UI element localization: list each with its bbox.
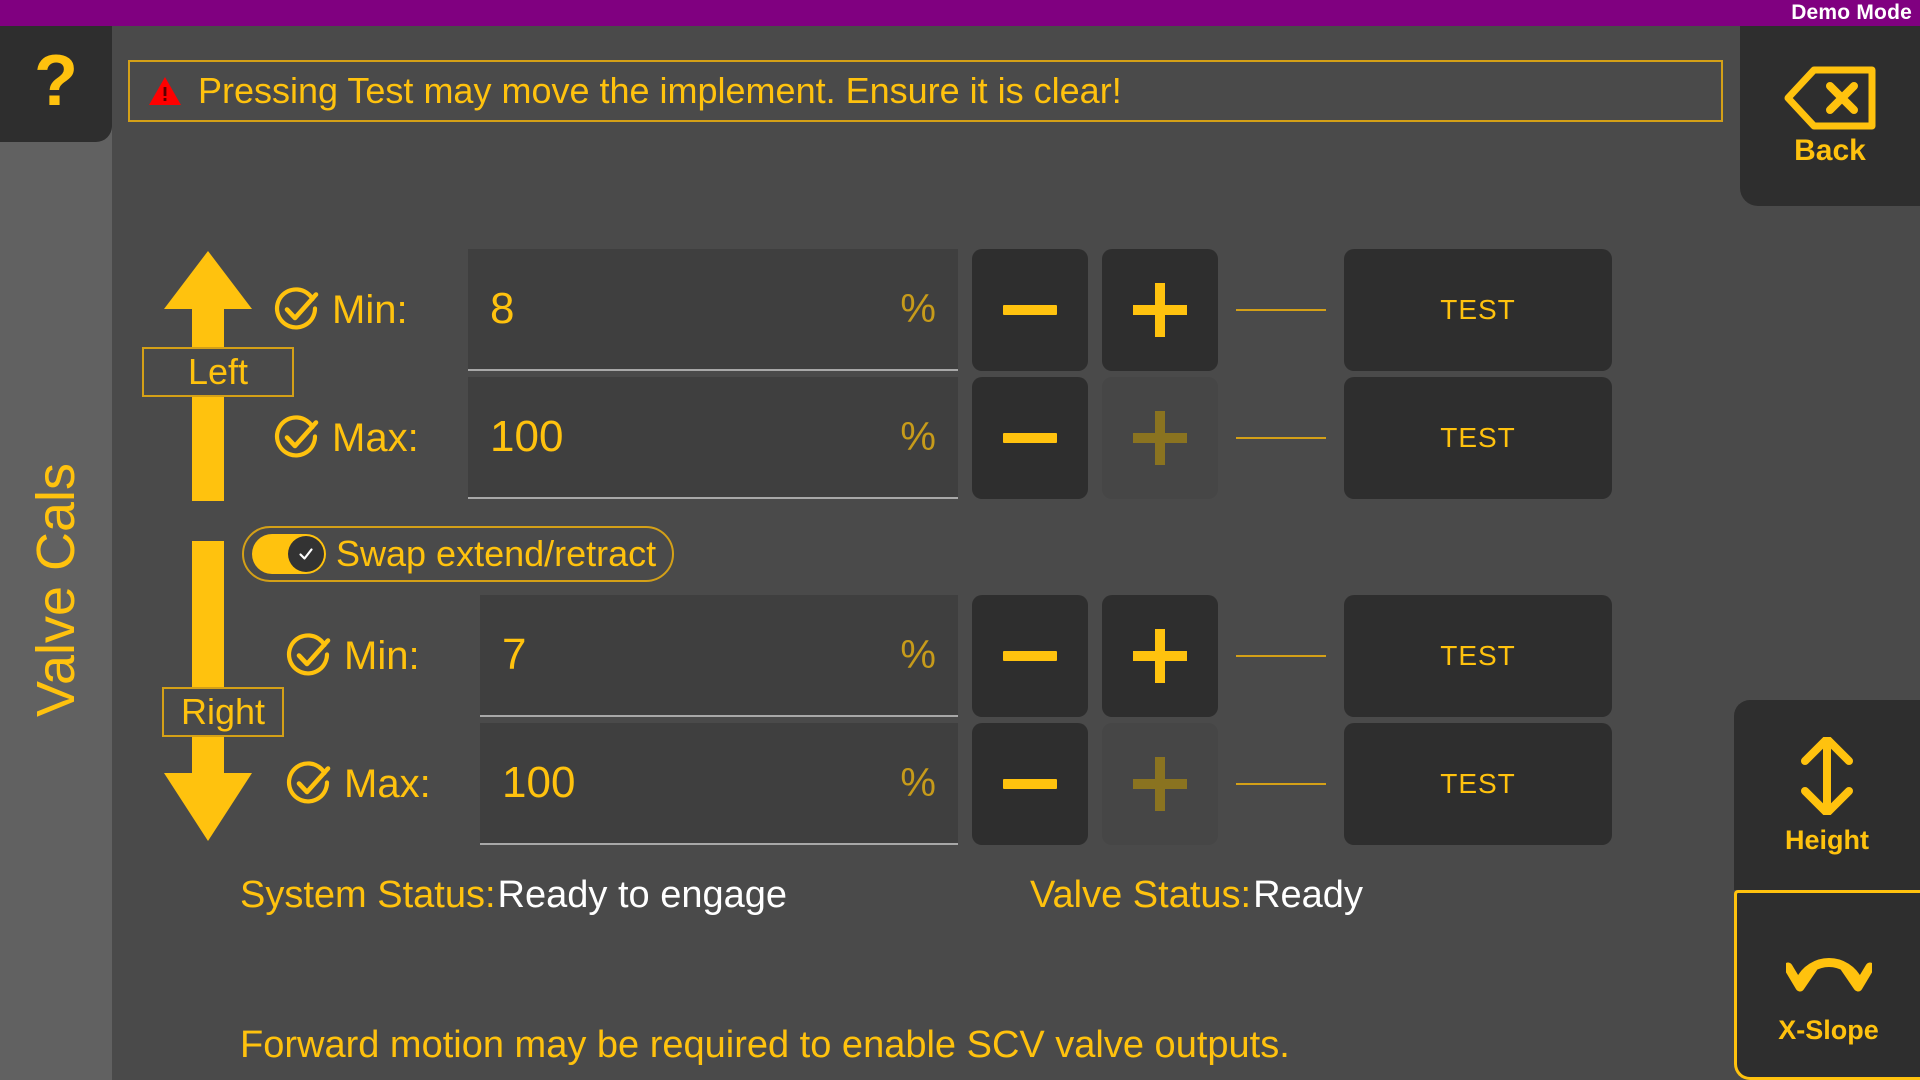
swap-extend-retract-toggle[interactable]: Swap extend/retract [242,526,674,582]
value-unit: % [900,635,936,675]
row-label: Min: [332,290,408,330]
mode-button-xslope[interactable]: X-Slope [1734,890,1920,1080]
row-label: Max: [344,764,431,804]
increment-button-left-min[interactable] [1102,249,1218,371]
value-input-left-max[interactable]: 100 % [468,377,958,499]
plus-icon [1133,757,1187,811]
connector-line [1236,437,1326,439]
row-label-group: Max: [284,759,480,809]
warning-triangle-icon [148,76,182,106]
side-chip-right-label: Right [181,694,265,730]
check-circle-icon[interactable] [272,413,322,463]
check-circle-icon[interactable] [284,759,334,809]
help-button[interactable]: ? [0,26,112,142]
value-number: 100 [490,415,563,459]
minus-icon [1003,305,1057,315]
test-button-left-min[interactable]: TEST [1344,249,1612,371]
value-number: 7 [502,633,526,677]
test-button-left-max[interactable]: TEST [1344,377,1612,499]
test-button-label: TEST [1440,294,1516,326]
toggle-pill [252,534,326,574]
value-number: 8 [490,287,514,331]
double-arrow-vertical-icon [1801,737,1853,815]
value-input-right-min[interactable]: 7 % [480,595,958,717]
decrement-button-left-max[interactable] [972,377,1088,499]
test-button-right-max[interactable]: TEST [1344,723,1612,845]
connector-line [1236,783,1326,785]
decrement-button-right-min[interactable] [972,595,1088,717]
system-status-label: System Status: [240,876,496,914]
mode-button-height-label: Height [1785,827,1869,854]
minus-icon [1003,651,1057,661]
row-label-group: Max: [272,413,468,463]
row-label: Max: [332,418,419,458]
value-unit: % [900,763,936,803]
check-circle-icon[interactable] [284,631,334,681]
value-number: 100 [502,761,575,805]
value-unit: % [900,417,936,457]
test-button-label: TEST [1440,768,1516,800]
app-root: Demo Mode ? Valve Cals Pressing Test may… [0,0,1920,1080]
decrement-button-right-max[interactable] [972,723,1088,845]
status-row: System Status: Ready to engage Valve Sta… [240,876,1640,926]
value-unit: % [900,289,936,329]
connector-line [1236,655,1326,657]
valve-row-right-min: Min: 7 % TEST [272,592,1612,720]
value-input-left-min[interactable]: 8 % [468,249,958,371]
minus-icon [1003,433,1057,443]
test-button-label: TEST [1440,422,1516,454]
side-chip-left-label: Left [188,354,248,390]
mode-button-xslope-label: X-Slope [1778,1017,1879,1044]
valve-row-left-max: Max: 100 % TEST [272,374,1612,502]
row-label-group: Min: [284,631,480,681]
page-title: Valve Cals [0,380,112,800]
plus-icon [1133,629,1187,683]
demo-mode-bar: Demo Mode [0,0,1920,26]
side-chip-right: Right [162,687,284,737]
warning-banner: Pressing Test may move the implement. En… [128,60,1723,122]
increment-button-right-min[interactable] [1102,595,1218,717]
valve-status-value: Ready [1253,876,1363,914]
back-button[interactable]: Back [1740,26,1920,206]
mode-button-height[interactable]: Height [1734,700,1920,890]
system-status: System Status: Ready to engage [240,876,787,914]
demo-mode-label: Demo Mode [1791,1,1912,25]
increment-button-left-max [1102,377,1218,499]
check-circle-icon[interactable] [272,285,322,335]
valve-status-label: Valve Status: [1030,876,1251,914]
plus-icon [1133,283,1187,337]
valve-status: Valve Status: Ready [1030,876,1363,914]
test-button-label: TEST [1440,640,1516,672]
footer-note: Forward motion may be required to enable… [240,1026,1290,1064]
decrement-button-left-min[interactable] [972,249,1088,371]
back-arrow-x-icon [1784,66,1876,130]
swap-toggle-label: Swap extend/retract [336,536,656,572]
toggle-knob [288,536,324,572]
row-label-group: Min: [272,285,468,335]
minus-icon [1003,779,1057,789]
row-label: Min: [344,636,420,676]
page-title-text: Valve Cals [29,463,83,717]
test-button-right-min[interactable]: TEST [1344,595,1612,717]
connector-line [1236,309,1326,311]
value-input-right-max[interactable]: 100 % [480,723,958,845]
plus-icon [1133,411,1187,465]
back-button-label: Back [1794,136,1866,166]
system-status-value: Ready to engage [498,876,787,914]
valve-row-left-min: Min: 8 % TEST [272,246,1612,374]
valve-row-right-max: Max: 100 % TEST [272,720,1612,848]
arc-rotate-icon [1786,927,1872,1005]
main-content: Pressing Test may move the implement. En… [112,26,1740,1080]
question-mark-icon: ? [34,45,78,117]
warning-text: Pressing Test may move the implement. En… [198,73,1122,109]
mode-button-stack: Height X-Slope [1734,700,1920,1080]
increment-button-right-max [1102,723,1218,845]
